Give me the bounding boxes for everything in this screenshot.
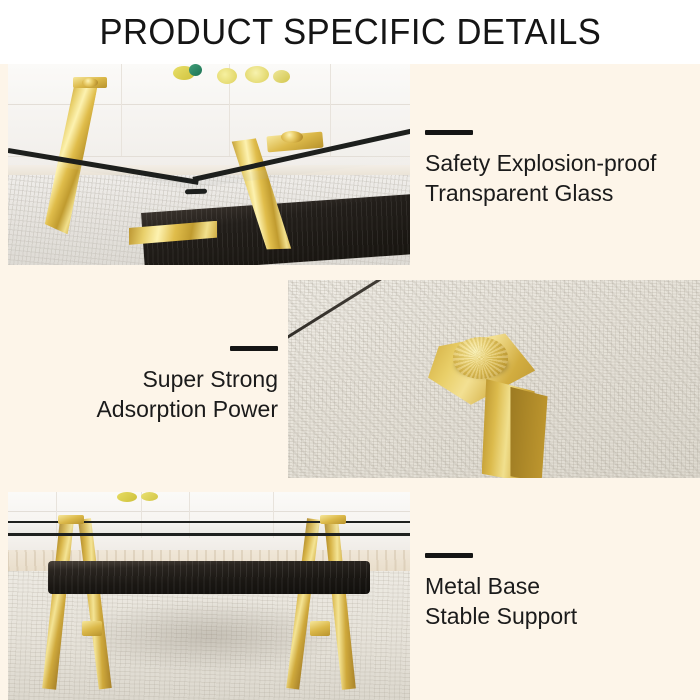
- feature-caption-safety-glass: Safety Explosion-proof Transparent Glass: [425, 130, 690, 208]
- caption-line-2: Transparent Glass: [425, 178, 690, 208]
- gold-knob: [82, 78, 98, 87]
- fruit-decor: [245, 66, 269, 83]
- title-band: PRODUCT SPECIFIC DETAILS: [0, 0, 700, 64]
- glass-edge-bottom: [8, 533, 410, 536]
- fruit-decor: [217, 68, 237, 84]
- gold-leg-foot-right: [310, 621, 330, 636]
- feature-caption-metal-base: Metal Base Stable Support: [425, 553, 690, 631]
- caption-dash: [230, 346, 278, 351]
- caption-line-1: Super Strong: [20, 364, 278, 394]
- fruit-decor: [141, 492, 158, 501]
- caption-line-2: Adsorption Power: [20, 394, 278, 424]
- caption-line-1: Metal Base: [425, 571, 690, 601]
- fruit-decor: [117, 492, 137, 502]
- caption-line-2: Stable Support: [425, 601, 690, 631]
- feature-image-safety-glass: [8, 64, 410, 265]
- glass-edge-corner: [185, 188, 207, 194]
- fruit-decor: [189, 64, 202, 76]
- gold-table-leg-shade: [510, 387, 547, 478]
- feature-image-metal-base: [8, 492, 410, 700]
- adsorption-disc: [453, 337, 509, 379]
- gold-leg-top-cap-left: [58, 515, 84, 524]
- gold-leg-top-cap-right: [320, 515, 346, 524]
- caption-dash: [425, 553, 473, 558]
- black-wood-crossbar: [48, 561, 370, 594]
- infographic-page: PRODUCT SPECIFIC DETAILS: [0, 0, 700, 700]
- feature-caption-adsorption-power: Super Strong Adsorption Power: [20, 346, 278, 424]
- caption-dash: [425, 130, 473, 135]
- feature-image-adsorption-power: [288, 280, 700, 478]
- page-title: PRODUCT SPECIFIC DETAILS: [99, 11, 601, 53]
- gold-leg-foot-left: [82, 621, 102, 636]
- caption-line-1: Safety Explosion-proof: [425, 148, 690, 178]
